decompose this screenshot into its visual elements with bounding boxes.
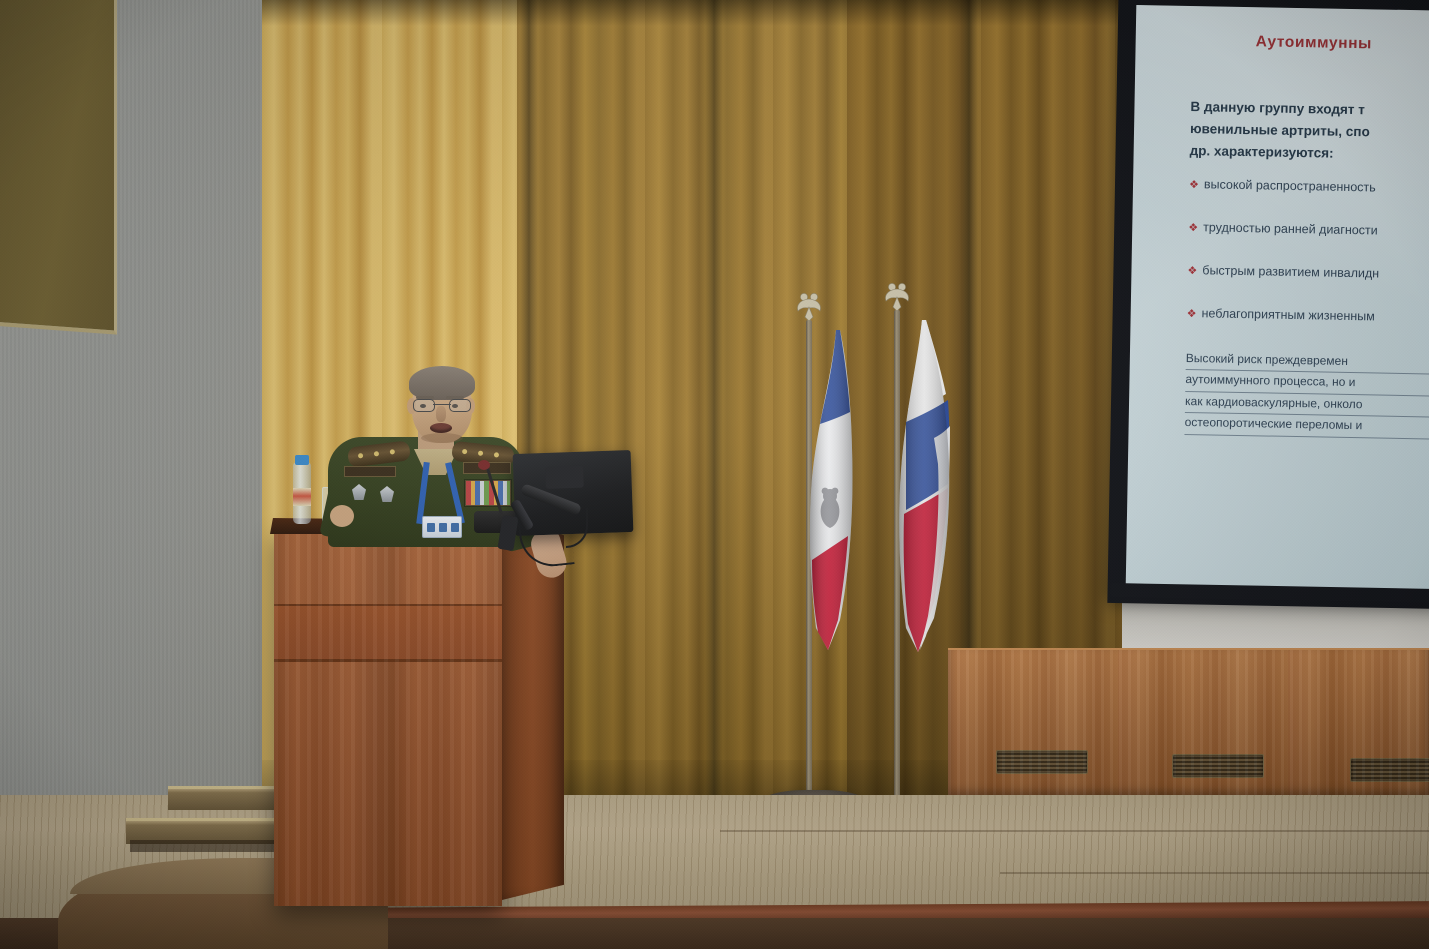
presentation-photo: Аутоиммунны В данную группу входят т юве… xyxy=(0,0,1429,949)
lens-left xyxy=(413,399,435,412)
projection-screen: Аутоиммунны В данную группу входят т юве… xyxy=(1126,5,1429,591)
bullet-diamond-icon: ❖ xyxy=(1189,179,1199,191)
mouth-open xyxy=(430,423,452,433)
stage-wood-wall-panel xyxy=(948,648,1429,798)
double-headed-eagle-icon xyxy=(794,290,824,324)
floor-seam xyxy=(1000,872,1429,874)
bullet-text: высокой распространенность xyxy=(1204,177,1376,194)
flag-cloth-tricolour xyxy=(894,318,960,658)
wall-acoustic-panel xyxy=(0,0,117,335)
bottle-label xyxy=(293,488,311,506)
chin-shadow xyxy=(421,433,463,443)
vent-grille xyxy=(1172,754,1264,778)
curtain-fold xyxy=(705,0,723,830)
medal-ribbon-bars xyxy=(465,480,511,506)
slide-underlined-line: остеопоротические переломы и xyxy=(1184,413,1429,439)
bullet-diamond-icon: ❖ xyxy=(1187,308,1197,320)
lectern-front-panel xyxy=(274,528,502,906)
bullet-diamond-icon: ❖ xyxy=(1188,222,1198,234)
curtain-top-shadow xyxy=(262,0,1122,26)
slide-title: Аутоиммунны xyxy=(1256,33,1429,55)
uniform-nametag-left xyxy=(344,466,396,477)
bullet-text: неблагоприятным жизненным xyxy=(1201,307,1374,324)
bottle-cap xyxy=(295,455,309,465)
flag-cloth-institutional xyxy=(806,328,870,658)
badge-logo xyxy=(427,523,459,532)
step-shadow xyxy=(130,840,280,852)
double-headed-eagle-icon xyxy=(882,280,912,314)
slide-bullet-list: ❖высокой распространенность ❖трудностью … xyxy=(1187,176,1429,327)
slide-underlined-block: Высокий риск преждевремен аутоиммунного … xyxy=(1184,349,1429,440)
presentation-slide: Аутоиммунны В данную группу входят т юве… xyxy=(1126,5,1429,591)
vent-grille xyxy=(1350,758,1429,782)
slide-bullet-item: ❖трудностью ранней диагности xyxy=(1188,219,1429,240)
vent-grille xyxy=(996,750,1088,774)
slide-bullet-item: ❖неблагоприятным жизненным xyxy=(1187,305,1429,326)
lectern-band xyxy=(274,604,502,662)
slide-bullet-item: ❖высокой распространенность xyxy=(1189,176,1429,197)
speaker-left-hand xyxy=(330,505,354,527)
bullet-text: быстрым развитием инвалидн xyxy=(1202,263,1379,280)
slide-paragraph-line: др. характеризуются: xyxy=(1189,140,1429,167)
slide-bullet-item: ❖быстрым развитием инвалидн xyxy=(1187,262,1429,283)
floor-seam xyxy=(720,830,1429,832)
speaker-hair xyxy=(409,366,475,400)
microphone-head xyxy=(478,460,490,470)
conference-badge xyxy=(422,516,462,538)
curtain-mid-section xyxy=(517,0,847,830)
bullet-diamond-icon: ❖ xyxy=(1187,265,1197,277)
bullet-text: трудностью ранней диагности xyxy=(1203,220,1378,237)
nose xyxy=(436,406,446,422)
lens-right xyxy=(449,399,471,412)
